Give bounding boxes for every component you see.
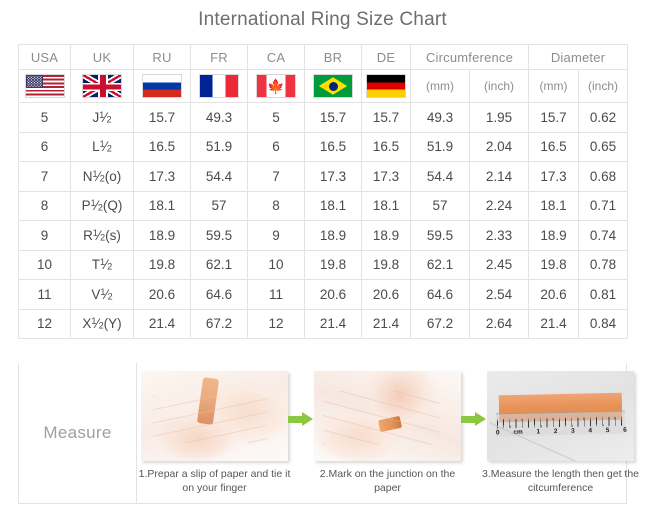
uk-size-letter: T (92, 257, 100, 272)
measure-steps-area: 1.Prepar a slip of paper and tie it on y… (137, 363, 638, 503)
cell-br-size: 16.5 (305, 132, 362, 162)
cell-br-size: 18.9 (305, 221, 362, 251)
cell-diameter-mm: 15.7 (529, 103, 579, 133)
cell-diameter-inch: 0.78 (579, 250, 628, 280)
cell-circumference-mm: 54.4 (411, 162, 470, 192)
cell-de-size: 21.4 (362, 309, 411, 339)
cell-uk-size: L1⁄2 (71, 132, 134, 162)
cell-circumference-inch: 2.64 (470, 309, 529, 339)
cell-circumference-inch: 2.54 (470, 280, 529, 310)
cell-circumference-mm: 51.9 (411, 132, 470, 162)
uk-size-suffix: (Q) (103, 198, 123, 213)
column-header-ru: RU (134, 45, 191, 70)
unit-header-circumference-inch: (inch) (470, 70, 529, 103)
uk-size-letter: R (83, 228, 93, 243)
cell-diameter-mm: 19.8 (529, 250, 579, 280)
cell-ru-size: 20.6 (134, 280, 191, 310)
hand-marking-paper-photo (314, 371, 461, 461)
flag-germany-icon (366, 74, 406, 98)
flag-cell-ca: 🍁 (248, 70, 305, 103)
step-3-caption: 3.Measure the length then get the citcum… (481, 468, 641, 495)
cell-diameter-mm: 17.3 (529, 162, 579, 192)
cell-diameter-mm: 18.1 (529, 191, 579, 221)
unit-header-diameter-inch: (inch) (579, 70, 628, 103)
table-row: 9R1⁄2(s)18.959.5918.918.959.52.3318.90.7… (19, 221, 628, 251)
cell-diameter-inch: 0.65 (579, 132, 628, 162)
cell-fr-size: 64.6 (191, 280, 248, 310)
ring-size-table: USA UK RU FR CA BR DE Circumference Diam… (18, 44, 628, 339)
cell-circumference-mm: 62.1 (411, 250, 470, 280)
arrow-right-icon-2 (461, 412, 487, 426)
cell-uk-size: N1⁄2(o) (71, 162, 134, 192)
cell-uk-size: R1⁄2(s) (71, 221, 134, 251)
table-header-flags-row: 🍁 (mm) (inch) (mm) (inch) (19, 70, 628, 103)
cell-diameter-inch: 0.71 (579, 191, 628, 221)
cell-br-size: 21.4 (305, 309, 362, 339)
cell-diameter-inch: 0.74 (579, 221, 628, 251)
cell-ru-size: 18.1 (134, 191, 191, 221)
step-1-caption: 1.Prepar a slip of paper and tie it on y… (135, 468, 295, 495)
ruler-mark-3: 2 (554, 428, 558, 435)
flag-brazil-icon (313, 74, 353, 98)
cell-ca-size: 8 (248, 191, 305, 221)
cell-usa-size: 7 (19, 162, 71, 192)
column-header-circumference: Circumference (411, 45, 529, 70)
cell-diameter-mm: 20.6 (529, 280, 579, 310)
cell-circumference-inch: 1.95 (470, 103, 529, 133)
flag-france-icon (199, 74, 239, 98)
column-header-uk: UK (71, 45, 134, 70)
cell-fr-size: 49.3 (191, 103, 248, 133)
cell-fr-size: 54.4 (191, 162, 248, 192)
uk-size-letter: P (82, 198, 91, 213)
flag-uk-icon (82, 74, 122, 98)
ruler-mark-5: 4 (588, 427, 592, 434)
flag-cell-uk (71, 70, 134, 103)
cell-br-size: 20.6 (305, 280, 362, 310)
cell-circumference-inch: 2.45 (470, 250, 529, 280)
table-row: 10T1⁄219.862.11019.819.862.12.4519.80.78 (19, 250, 628, 280)
cell-uk-size: V1⁄2 (71, 280, 134, 310)
table-row: 12X1⁄2(Y)21.467.21221.421.467.22.6421.40… (19, 309, 628, 339)
cell-diameter-inch: 0.81 (579, 280, 628, 310)
hand-with-paper-strip-photo (141, 371, 288, 461)
cell-usa-size: 8 (19, 191, 71, 221)
cell-fr-size: 59.5 (191, 221, 248, 251)
table-body: 5J1⁄215.749.3515.715.749.31.9515.70.626L… (19, 103, 628, 339)
cell-diameter-inch: 0.68 (579, 162, 628, 192)
cell-circumference-mm: 59.5 (411, 221, 470, 251)
cell-usa-size: 12 (19, 309, 71, 339)
cell-br-size: 15.7 (305, 103, 362, 133)
cell-ru-size: 21.4 (134, 309, 191, 339)
cell-circumference-mm: 57 (411, 191, 470, 221)
table-row: 11V1⁄220.664.61120.620.664.62.5420.60.81 (19, 280, 628, 310)
cell-de-size: 16.5 (362, 132, 411, 162)
cell-circumference-inch: 2.04 (470, 132, 529, 162)
cell-diameter-mm: 18.9 (529, 221, 579, 251)
measure-label-cell: Measure (19, 363, 137, 503)
cell-ca-size: 7 (248, 162, 305, 192)
column-header-br: BR (305, 45, 362, 70)
cell-circumference-mm: 49.3 (411, 103, 470, 133)
uk-size-letter: L (92, 139, 100, 154)
arrow-right-icon-1 (288, 412, 314, 426)
uk-size-denominator: 2 (108, 291, 113, 301)
cell-de-size: 19.8 (362, 250, 411, 280)
flag-cell-usa (19, 70, 71, 103)
cell-br-size: 17.3 (305, 162, 362, 192)
flag-canada-icon: 🍁 (256, 74, 296, 98)
cell-circumference-inch: 2.14 (470, 162, 529, 192)
cell-circumference-inch: 2.24 (470, 191, 529, 221)
column-header-de: DE (362, 45, 411, 70)
cell-br-size: 18.1 (305, 191, 362, 221)
cell-diameter-inch: 0.62 (579, 103, 628, 133)
cell-ru-size: 17.3 (134, 162, 191, 192)
column-header-ca: CA (248, 45, 305, 70)
cell-diameter-inch: 0.84 (579, 309, 628, 339)
ring-size-chart-page: International Ring Size Chart USA UK RU … (0, 0, 645, 524)
cell-fr-size: 57 (191, 191, 248, 221)
cell-fr-size: 62.1 (191, 250, 248, 280)
unit-header-diameter-mm: (mm) (529, 70, 579, 103)
table-header-names-row: USA UK RU FR CA BR DE Circumference Diam… (19, 45, 628, 70)
table-row: 7N1⁄2(o)17.354.4717.317.354.42.1417.30.6… (19, 162, 628, 192)
uk-size-denominator: 2 (107, 114, 112, 124)
cell-uk-size: T1⁄2 (71, 250, 134, 280)
ruler-mark-6: 5 (606, 427, 610, 434)
flag-cell-de (362, 70, 411, 103)
flag-cell-ru (134, 70, 191, 103)
uk-size-denominator: 2 (107, 144, 112, 154)
ruler-mark-4: 3 (571, 427, 575, 434)
cell-circumference-mm: 64.6 (411, 280, 470, 310)
cell-circumference-inch: 2.33 (470, 221, 529, 251)
cell-diameter-mm: 16.5 (529, 132, 579, 162)
maple-leaf-icon: 🍁 (267, 79, 284, 93)
cell-ru-size: 16.5 (134, 132, 191, 162)
cell-de-size: 18.9 (362, 221, 411, 251)
table-row: 5J1⁄215.749.3515.715.749.31.9515.70.62 (19, 103, 628, 133)
step-2-caption: 2.Mark on the junction on the paper (308, 468, 468, 495)
cell-ca-size: 6 (248, 132, 305, 162)
uk-size-letter: V (91, 287, 100, 302)
cell-usa-size: 11 (19, 280, 71, 310)
paper-strip-on-ruler-photo: 0cm123456 (487, 371, 634, 461)
cell-ca-size: 12 (248, 309, 305, 339)
uk-size-suffix: (o) (105, 169, 122, 184)
cell-fr-size: 67.2 (191, 309, 248, 339)
cell-de-size: 15.7 (362, 103, 411, 133)
cell-br-size: 19.8 (305, 250, 362, 280)
table-row: 6L1⁄216.551.9616.516.551.92.0416.50.65 (19, 132, 628, 162)
cell-usa-size: 10 (19, 250, 71, 280)
cell-usa-size: 5 (19, 103, 71, 133)
uk-size-denominator: 2 (107, 262, 112, 272)
cell-ru-size: 19.8 (134, 250, 191, 280)
cell-circumference-mm: 67.2 (411, 309, 470, 339)
measure-label: Measure (43, 423, 111, 443)
cell-de-size: 20.6 (362, 280, 411, 310)
cell-ca-size: 11 (248, 280, 305, 310)
cell-ca-size: 5 (248, 103, 305, 133)
flag-cell-br (305, 70, 362, 103)
uk-size-letter: X (82, 316, 91, 331)
cell-ca-size: 10 (248, 250, 305, 280)
cell-de-size: 17.3 (362, 162, 411, 192)
measure-step-3: 0cm123456 3.Measure the length then get … (487, 371, 634, 495)
cell-ru-size: 15.7 (134, 103, 191, 133)
cell-ru-size: 18.9 (134, 221, 191, 251)
flag-cell-fr (191, 70, 248, 103)
measure-step-1: 1.Prepar a slip of paper and tie it on y… (141, 371, 288, 495)
ruler-mark-7: 6 (623, 426, 627, 433)
cell-de-size: 18.1 (362, 191, 411, 221)
column-header-fr: FR (191, 45, 248, 70)
column-header-diameter: Diameter (529, 45, 628, 70)
measure-section: Measure 1.Prepar a slip of paper and tie… (18, 363, 627, 504)
cell-fr-size: 51.9 (191, 132, 248, 162)
cell-ca-size: 9 (248, 221, 305, 251)
measure-step-2: 2.Mark on the junction on the paper (314, 371, 461, 495)
unit-header-circumference-mm: (mm) (411, 70, 470, 103)
flag-usa-icon (25, 74, 65, 98)
page-title: International Ring Size Chart (0, 9, 645, 31)
column-header-usa: USA (19, 45, 71, 70)
flag-russia-icon (142, 74, 182, 98)
uk-size-letter: N (83, 169, 93, 184)
ruler-mark-2: 1 (536, 428, 540, 435)
uk-size-suffix: (s) (105, 228, 121, 243)
cell-uk-size: P1⁄2(Q) (71, 191, 134, 221)
cell-uk-size: J1⁄2 (71, 103, 134, 133)
table-row: 8P1⁄2(Q)18.157818.118.1572.2418.10.71 (19, 191, 628, 221)
cell-usa-size: 6 (19, 132, 71, 162)
cell-usa-size: 9 (19, 221, 71, 251)
cell-diameter-mm: 21.4 (529, 309, 579, 339)
uk-size-suffix: (Y) (104, 316, 122, 331)
cell-uk-size: X1⁄2(Y) (71, 309, 134, 339)
